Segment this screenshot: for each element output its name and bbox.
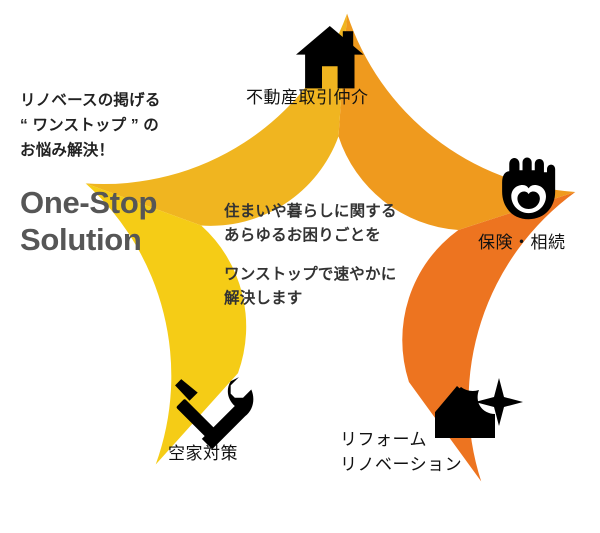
left-text-block: リノベースの掲げる “ ワンストップ ” の お悩み解決！ One-Stop S… (20, 88, 230, 258)
center-text-block: 住まいや暮らしに関する あらゆるお困りごとを ワンストップで速やかに 解決します (224, 200, 464, 312)
segment-label-akiya: 空家対策 (168, 442, 318, 467)
hand-heart-icon (502, 157, 555, 219)
center-paragraph-1: 住まいや暮らしに関する あらゆるお困りごとを (224, 200, 464, 249)
page-title: One-Stop Solution (20, 185, 230, 258)
segment-label-insurance: 保険・相続 (478, 231, 600, 256)
segment-label-reform: リフォーム リノベーション (340, 428, 510, 477)
lead-text: リノベースの掲げる “ ワンストップ ” の お悩み解決！ (20, 88, 230, 163)
segment-label-real-estate: 不動産取引仲介 (246, 86, 426, 111)
one-stop-solution-infographic: 不動産取引仲介 保険・相続 リフォーム リノベーション 空家対策 リノベースの掲… (0, 0, 600, 533)
center-paragraph-2: ワンストップで速やかに 解決します (224, 263, 464, 312)
